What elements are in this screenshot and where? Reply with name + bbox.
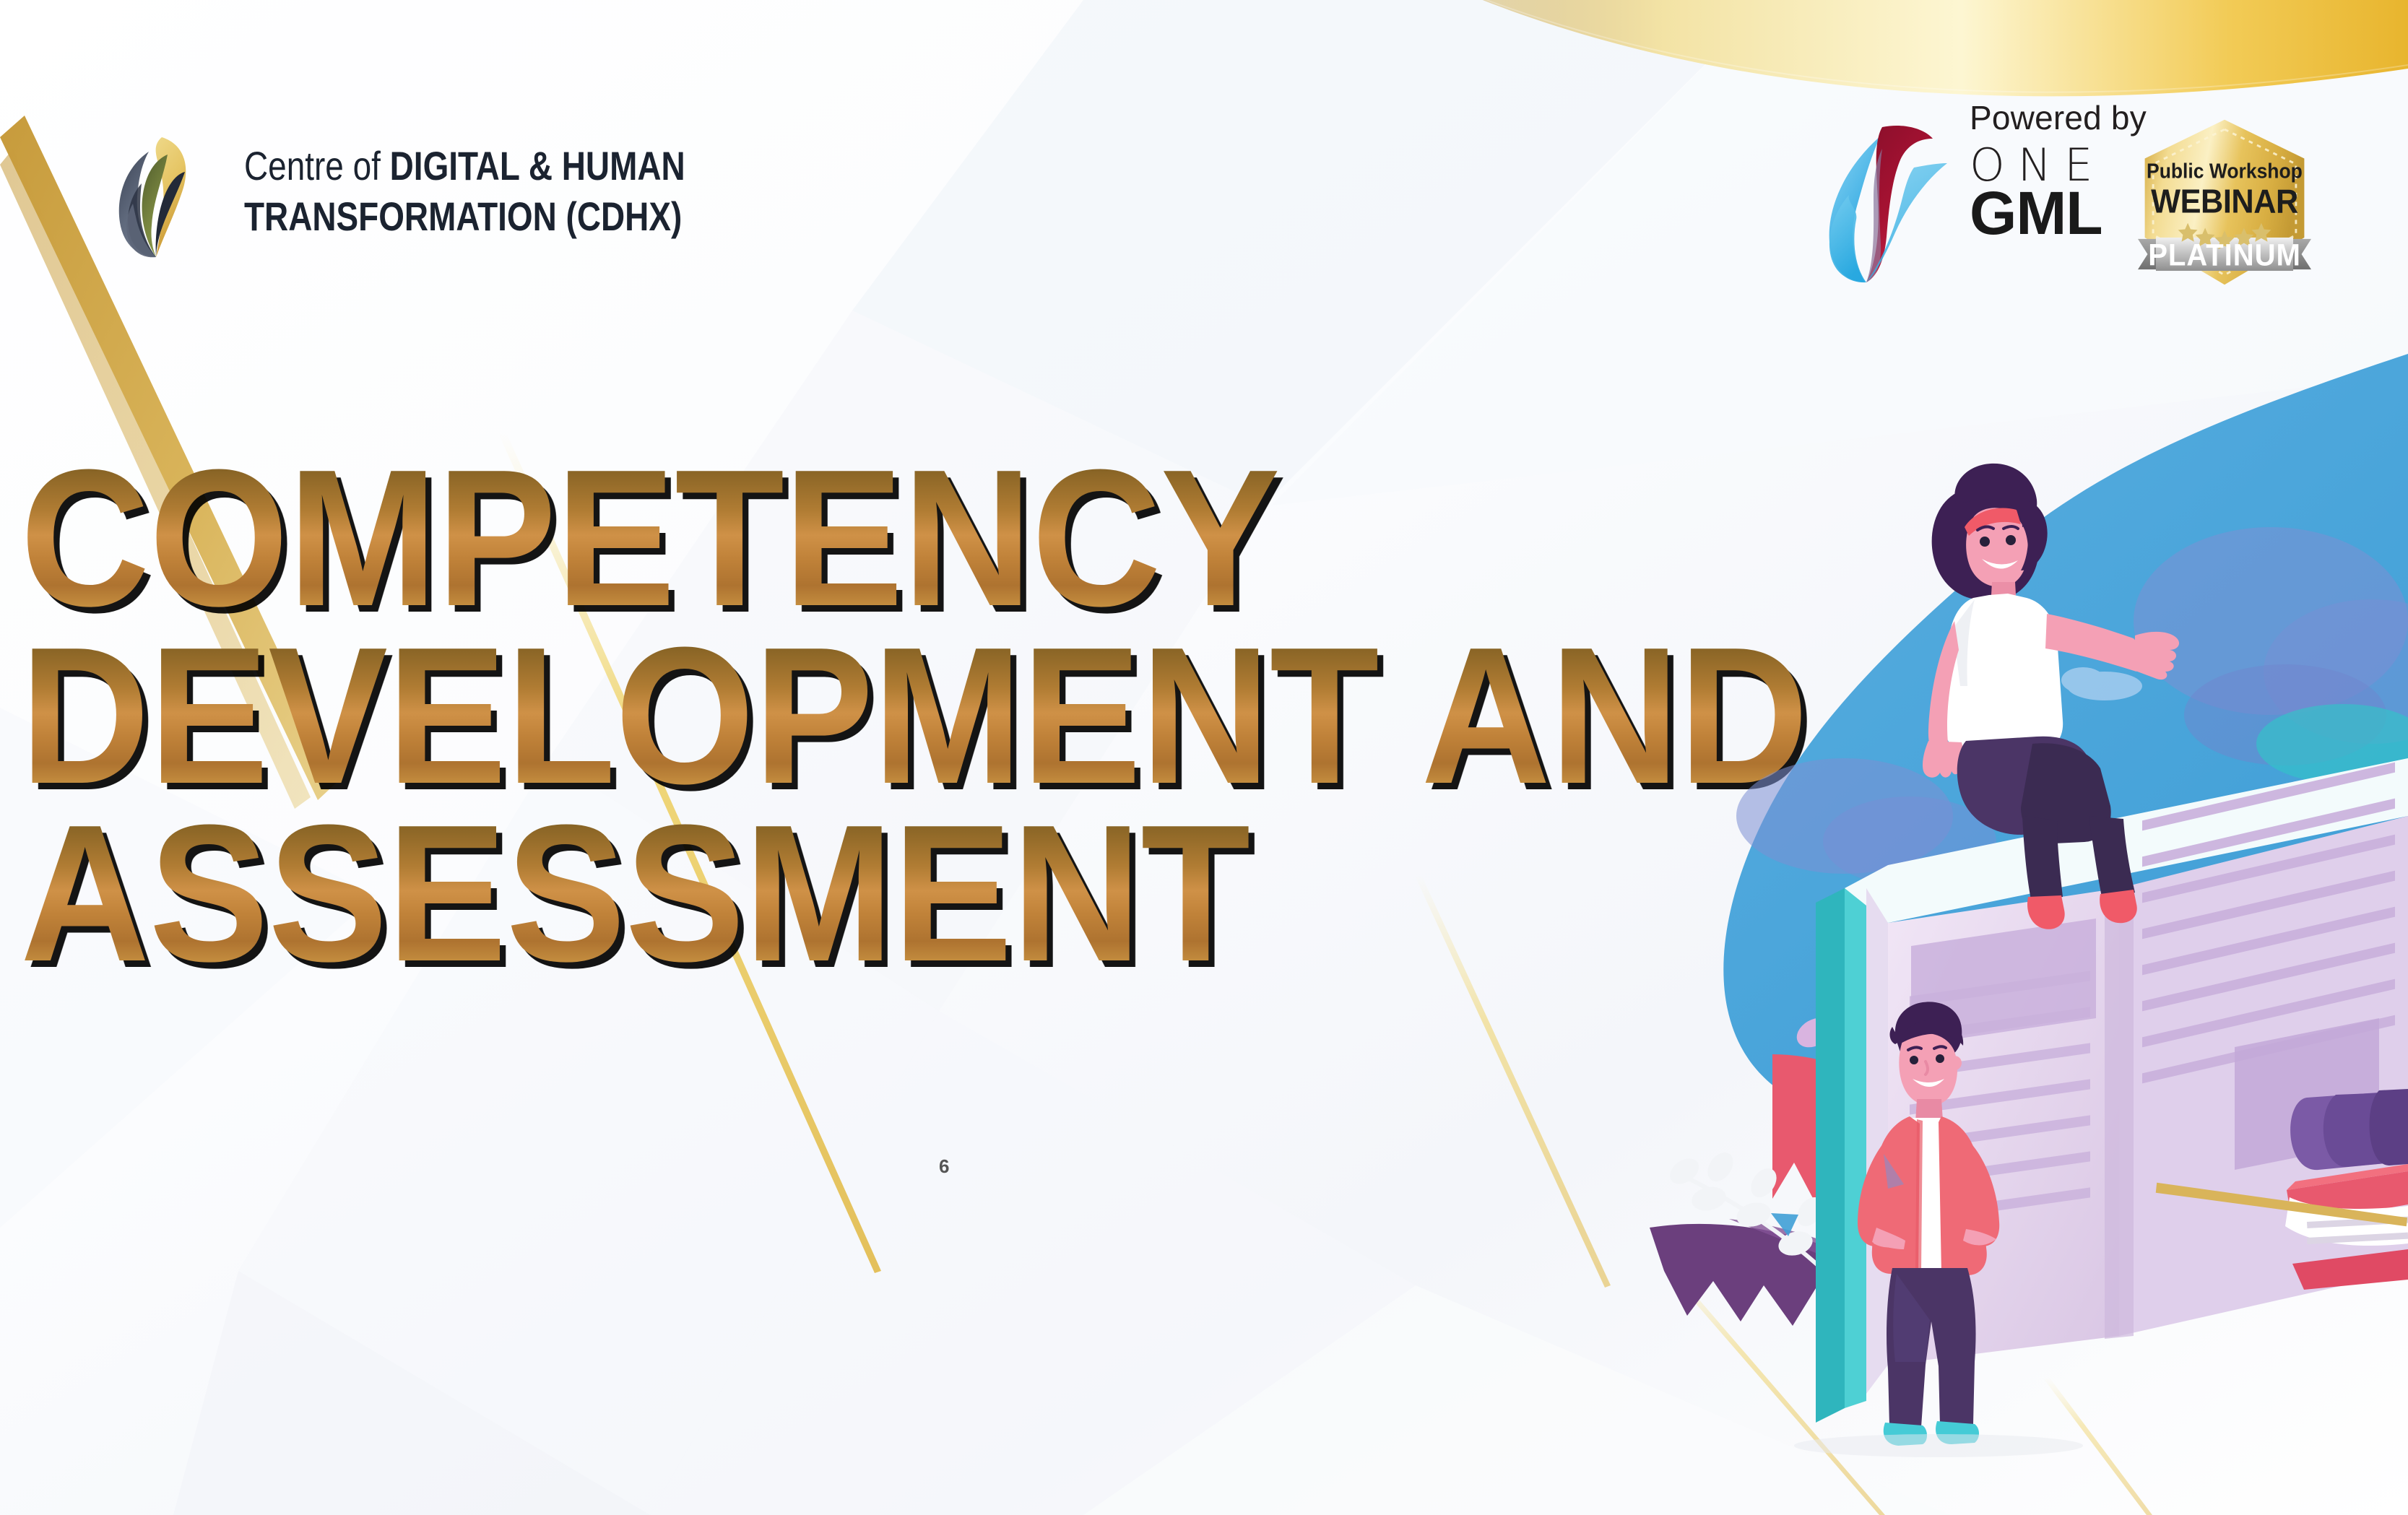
people-reading-giant-book-illustration bbox=[1599, 311, 2408, 1394]
gml-wordmark: GML bbox=[1970, 186, 2147, 241]
cdhx-leaf-logo-icon bbox=[87, 123, 224, 260]
one-gml-flame-logo-icon bbox=[1820, 117, 1975, 283]
title-line-1: COMPETENCY bbox=[20, 455, 1808, 622]
platinum-webinar-badge: Public Workshop WEBINAR PLATINUM bbox=[2134, 116, 2315, 289]
slide-canvas: Centre of DIGITAL & HUMAN TRANSFORMATION… bbox=[0, 0, 2408, 1515]
title-line-3: ASSESSMENT bbox=[20, 810, 1808, 978]
powered-by-label: Powered by bbox=[1970, 101, 2147, 134]
slide-number: 6 bbox=[939, 1155, 949, 1178]
title-line-2: DEVELOPMENT AND bbox=[20, 633, 1808, 800]
badge-top-label: Public Workshop bbox=[2147, 159, 2303, 182]
cdhx-line1-bold: DIGITAL & HUMAN bbox=[390, 143, 685, 188]
cdhx-logo-line2: TRANSFORMATION (CDHX) bbox=[244, 196, 685, 237]
cdhx-logo-line1: Centre of DIGITAL & HUMAN bbox=[244, 146, 685, 186]
badge-main-label: WEBINAR bbox=[2151, 183, 2298, 220]
cdhx-logo: Centre of DIGITAL & HUMAN TRANSFORMATION… bbox=[87, 123, 782, 260]
powered-by-one-gml: Powered by ONE GML bbox=[1820, 101, 2147, 283]
cdhx-line1-light: Centre of bbox=[244, 143, 390, 188]
badge-ribbon-label: PLATINUM bbox=[2148, 238, 2301, 272]
